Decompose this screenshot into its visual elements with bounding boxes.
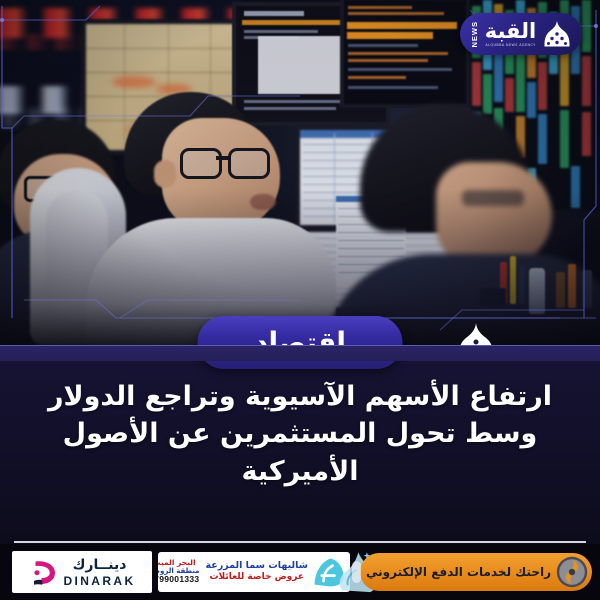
dinarak-name-arabic: دينــارك	[73, 558, 127, 572]
news-graphic-card: القبة ALQUBBA NEWS AGENCY NEWS اقتصاد ار…	[0, 0, 600, 600]
dome-icon	[542, 20, 572, 48]
brand-logo[interactable]: القبة ALQUBBA NEWS AGENCY NEWS	[460, 13, 582, 55]
sama-phone[interactable]: 0799001333	[158, 575, 199, 584]
sponsor-rahtak[interactable]: راحتك لخدمات الدفع الإلكتروني	[360, 553, 592, 591]
headline-line-2: وسط تحول المستثمرين عن الأصول	[63, 415, 538, 452]
accent-band	[0, 345, 600, 361]
separator-line	[14, 541, 586, 543]
sponsor-dinarak[interactable]: دينــارك DINARAK	[12, 551, 152, 593]
brand-logo-text: القبة ALQUBBA NEWS AGENCY	[485, 21, 537, 47]
dinarak-text: دينــارك DINARAK	[63, 558, 135, 587]
sama-title: شاليهات سما المزرعة	[206, 561, 308, 572]
sama-main-text: شاليهات سما المزرعة عروض خاصة للعائلات	[206, 561, 308, 582]
sama-location-block: البحر الميت منطقة الروضة 0799001333	[158, 559, 202, 584]
brand-news-label: NEWS	[470, 21, 479, 48]
headline: ارتفاع الأسهم الآسيوية وتراجع الدولار وس…	[0, 372, 600, 524]
sponsor-sama-chalets[interactable]: شاليهات سما المزرعة عروض خاصة للعائلات ا…	[158, 552, 350, 592]
sponsor-bar: دينــارك DINARAK شاليهات سما المزرعة عرو…	[0, 544, 600, 600]
rahtak-text: راحتك لخدمات الدفع الإلكتروني	[366, 565, 551, 579]
rahtak-cap-decoration	[352, 561, 361, 583]
dinarak-logo-icon	[28, 557, 58, 587]
rahtak-logo-icon	[556, 556, 588, 588]
headline-line-1: ارتفاع الأسهم الآسيوية وتراجع الدولار	[48, 378, 552, 415]
dinarak-name-english: DINARAK	[63, 575, 135, 587]
headline-line-3: الأميركية	[242, 453, 359, 490]
sama-subtitle: عروض خاصة للعائلات	[210, 572, 305, 582]
brand-subtitle: ALQUBBA NEWS AGENCY	[485, 44, 535, 47]
brand-name-arabic: القبة	[485, 21, 537, 42]
category-pill[interactable]: اقتصاد	[198, 316, 403, 369]
